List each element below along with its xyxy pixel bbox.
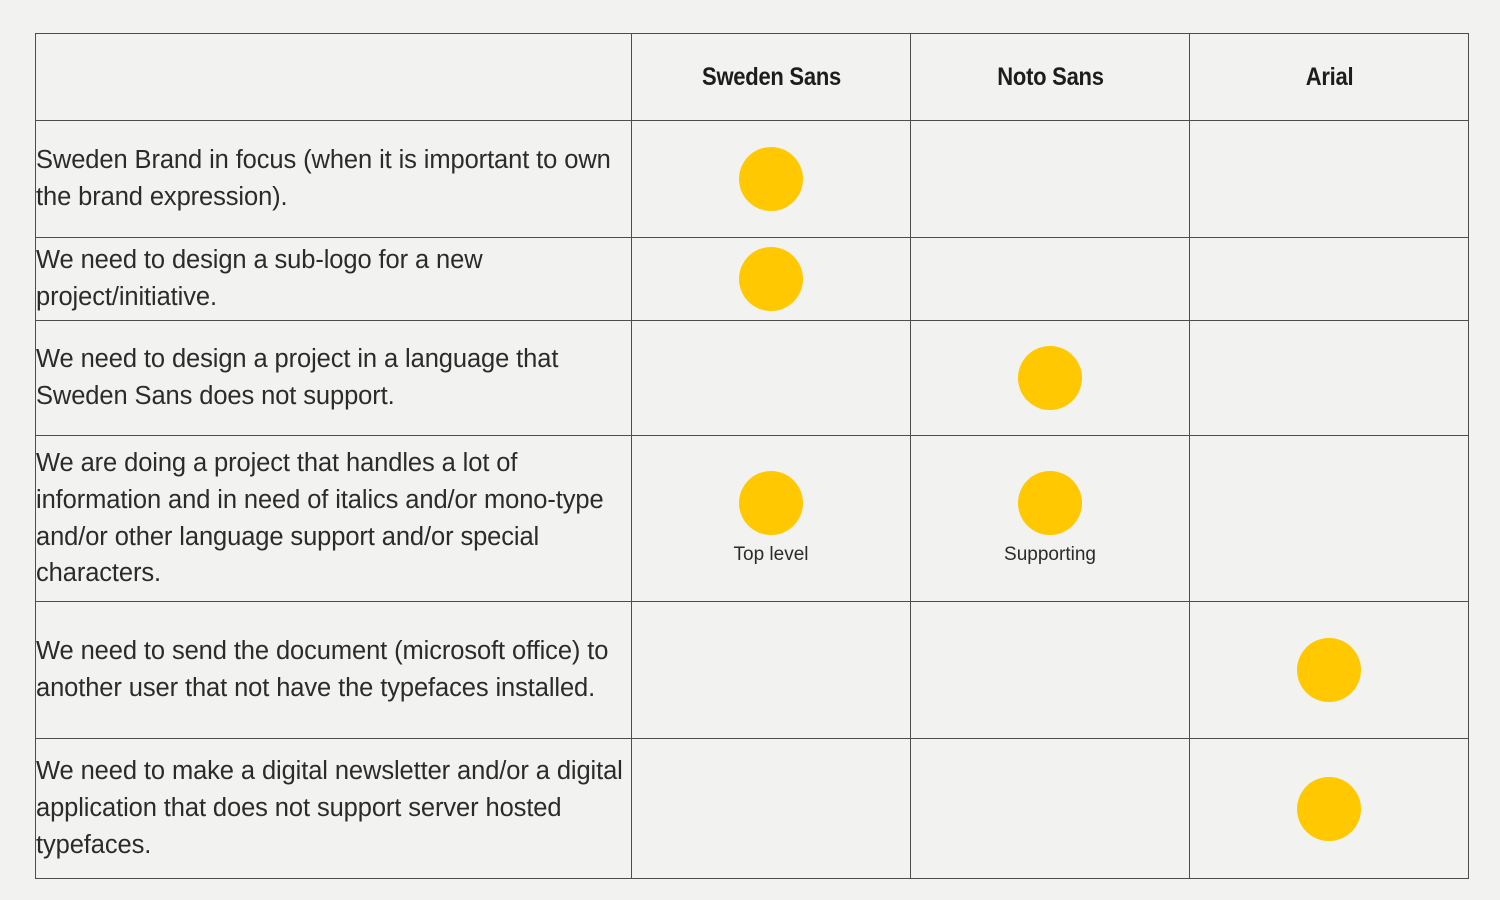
mark-cell-arial <box>1190 238 1469 321</box>
typeface-selection-table: Sweden Sans Noto Sans Arial Sweden Brand… <box>35 33 1469 879</box>
table-row: Sweden Brand in focus (when it is import… <box>36 121 1469 238</box>
mark-cell-sweden-sans <box>632 602 911 739</box>
table-header-row: Sweden Sans Noto Sans Arial <box>36 34 1469 121</box>
table-row: We need to send the document (microsoft … <box>36 602 1469 739</box>
mark-cell-arial <box>1190 602 1469 739</box>
mark-group <box>1190 638 1468 702</box>
criteria-label: We need to design a sub-logo for a new p… <box>36 238 632 321</box>
mark-group <box>632 147 910 211</box>
table-row: We need to make a digital newsletter and… <box>36 739 1469 879</box>
table-body: Sweden Brand in focus (when it is import… <box>36 121 1469 879</box>
mark-cell-arial <box>1190 436 1469 602</box>
mark-group: Supporting <box>911 471 1189 566</box>
yellow-dot-icon <box>1018 346 1082 410</box>
header-cell-sweden-sans: Sweden Sans <box>648 34 894 121</box>
criteria-label: Sweden Brand in focus (when it is import… <box>36 121 632 238</box>
mark-cell-arial <box>1190 321 1469 436</box>
mark-cell-arial <box>1190 121 1469 238</box>
yellow-dot-icon <box>1297 638 1361 702</box>
yellow-dot-icon <box>739 471 803 535</box>
table-row: We need to design a sub-logo for a new p… <box>36 238 1469 321</box>
mark-group <box>632 247 910 311</box>
mark-cell-noto-sans <box>911 602 1190 739</box>
dot-caption: Top level <box>734 545 809 566</box>
yellow-dot-icon <box>1297 777 1361 841</box>
table-row: We are doing a project that handles a lo… <box>36 436 1469 602</box>
mark-group <box>1190 777 1468 841</box>
mark-cell-sweden-sans <box>632 121 911 238</box>
header-cell-criteria <box>36 34 632 121</box>
mark-cell-noto-sans <box>911 121 1190 238</box>
mark-cell-sweden-sans <box>632 739 911 879</box>
mark-cell-noto-sans <box>911 238 1190 321</box>
criteria-label: We are doing a project that handles a lo… <box>36 436 632 602</box>
yellow-dot-icon <box>739 147 803 211</box>
criteria-label: We need to design a project in a languag… <box>36 321 632 436</box>
mark-cell-arial <box>1190 739 1469 879</box>
mark-group <box>911 346 1189 410</box>
yellow-dot-icon <box>1018 471 1082 535</box>
table-row: We need to design a project in a languag… <box>36 321 1469 436</box>
criteria-label: We need to send the document (microsoft … <box>36 602 632 739</box>
mark-cell-noto-sans <box>911 739 1190 879</box>
typeface-selection-matrix-page: Sweden Sans Noto Sans Arial Sweden Brand… <box>0 0 1500 900</box>
criteria-label: We need to make a digital newsletter and… <box>36 739 632 879</box>
mark-cell-noto-sans <box>911 321 1190 436</box>
mark-cell-sweden-sans <box>632 321 911 436</box>
header-cell-arial: Arial <box>1206 34 1452 121</box>
header-cell-noto-sans: Noto Sans <box>927 34 1173 121</box>
mark-group: Top level <box>632 471 910 566</box>
mark-cell-sweden-sans: Top level <box>632 436 911 602</box>
mark-cell-sweden-sans <box>632 238 911 321</box>
mark-cell-noto-sans: Supporting <box>911 436 1190 602</box>
yellow-dot-icon <box>739 247 803 311</box>
dot-caption: Supporting <box>1004 545 1096 566</box>
